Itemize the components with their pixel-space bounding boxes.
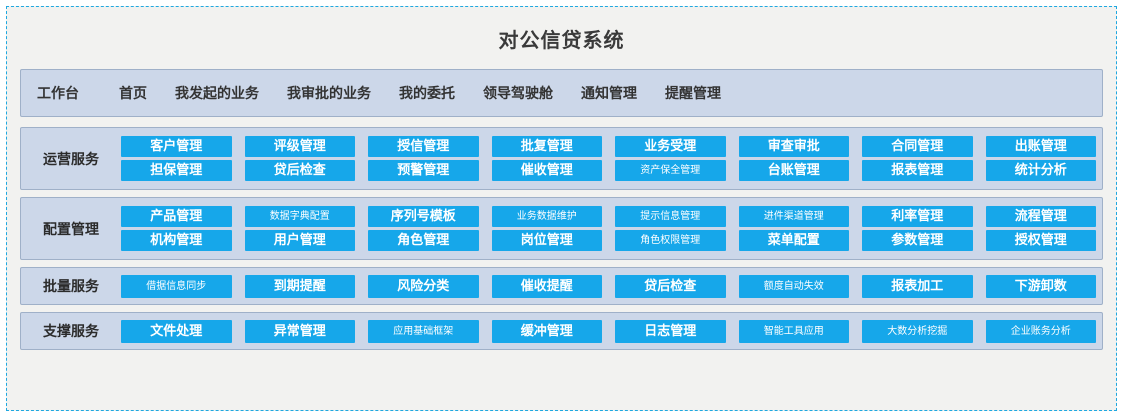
nav-item-3[interactable]: 我审批的业务 <box>273 83 385 103</box>
module-tile[interactable]: 预警管理 <box>368 160 479 181</box>
section-panel-3: 支撑服务文件处理异常管理应用基础框架缓冲管理日志管理智能工具应用大数分析挖掘企业… <box>20 312 1103 350</box>
nav-item-4[interactable]: 我的委托 <box>385 83 469 103</box>
module-tile[interactable]: 提示信息管理 <box>615 206 726 227</box>
module-tile[interactable]: 用户管理 <box>245 230 356 251</box>
page-title: 对公信贷系统 <box>499 24 625 53</box>
nav-item-7[interactable]: 提醒管理 <box>651 83 735 103</box>
module-tile[interactable]: 菜单配置 <box>739 230 850 251</box>
module-tile[interactable]: 批复管理 <box>492 136 603 157</box>
module-tile[interactable]: 授权管理 <box>986 230 1097 251</box>
module-tile[interactable]: 报表加工 <box>862 275 973 298</box>
tile-row: 客户管理评级管理授信管理批复管理业务受理审查审批合同管理出账管理 <box>121 136 1096 157</box>
module-tile[interactable]: 额度自动失效 <box>739 275 850 298</box>
module-tile[interactable]: 企业账务分析 <box>986 320 1097 343</box>
module-tile[interactable]: 业务受理 <box>615 136 726 157</box>
module-tile[interactable]: 授信管理 <box>368 136 479 157</box>
module-tile[interactable]: 评级管理 <box>245 136 356 157</box>
nav-item-5[interactable]: 领导驾驶舱 <box>469 83 567 103</box>
tile-row: 产品管理数据字典配置序列号模板业务数据维护提示信息管理进件渠道管理利率管理流程管… <box>121 206 1096 227</box>
module-tile[interactable]: 资产保全管理 <box>615 160 726 181</box>
module-tile[interactable]: 催收提醒 <box>492 275 603 298</box>
module-tile[interactable]: 智能工具应用 <box>739 320 850 343</box>
section-tile-grid-2: 借据信息同步到期提醒风险分类催收提醒贷后检查额度自动失效报表加工下游卸数 <box>121 275 1096 298</box>
module-tile[interactable]: 审查审批 <box>739 136 850 157</box>
tile-row: 借据信息同步到期提醒风险分类催收提醒贷后检查额度自动失效报表加工下游卸数 <box>121 275 1096 298</box>
module-tile[interactable]: 贷后检查 <box>245 160 356 181</box>
section-label-3: 支撑服务 <box>21 321 121 341</box>
section-panel-1: 配置管理产品管理数据字典配置序列号模板业务数据维护提示信息管理进件渠道管理利率管… <box>20 197 1103 260</box>
nav-item-6[interactable]: 通知管理 <box>567 83 651 103</box>
module-tile[interactable]: 数据字典配置 <box>245 206 356 227</box>
module-tile[interactable]: 流程管理 <box>986 206 1097 227</box>
module-tile[interactable]: 产品管理 <box>121 206 232 227</box>
module-tile[interactable]: 岗位管理 <box>492 230 603 251</box>
section-label-2: 批量服务 <box>21 276 121 296</box>
nav-item-1[interactable]: 首页 <box>105 83 161 103</box>
module-tile[interactable]: 出账管理 <box>986 136 1097 157</box>
nav-item-0[interactable]: 工作台 <box>37 83 105 103</box>
module-tile[interactable]: 序列号模板 <box>368 206 479 227</box>
module-tile[interactable]: 到期提醒 <box>245 275 356 298</box>
module-tile[interactable]: 担保管理 <box>121 160 232 181</box>
tile-row: 担保管理贷后检查预警管理催收管理资产保全管理台账管理报表管理统计分析 <box>121 160 1096 181</box>
module-tile[interactable]: 报表管理 <box>862 160 973 181</box>
main-navigation-bar: 工作台首页我发起的业务我审批的业务我的委托领导驾驶舱通知管理提醒管理 <box>20 69 1103 117</box>
module-tile[interactable]: 台账管理 <box>739 160 850 181</box>
title-bar: 对公信贷系统 <box>7 7 1116 69</box>
nav-item-2[interactable]: 我发起的业务 <box>161 83 273 103</box>
module-tile[interactable]: 业务数据维护 <box>492 206 603 227</box>
section-label-1: 配置管理 <box>21 219 121 239</box>
module-tile[interactable]: 大数分析挖掘 <box>862 320 973 343</box>
module-tile[interactable]: 贷后检查 <box>615 275 726 298</box>
section-panel-2: 批量服务借据信息同步到期提醒风险分类催收提醒贷后检查额度自动失效报表加工下游卸数 <box>20 267 1103 305</box>
module-tile[interactable]: 合同管理 <box>862 136 973 157</box>
section-tile-grid-3: 文件处理异常管理应用基础框架缓冲管理日志管理智能工具应用大数分析挖掘企业账务分析 <box>121 320 1096 343</box>
tile-row: 机构管理用户管理角色管理岗位管理角色权限管理菜单配置参数管理授权管理 <box>121 230 1096 251</box>
module-tile[interactable]: 日志管理 <box>615 320 726 343</box>
section-tile-grid-1: 产品管理数据字典配置序列号模板业务数据维护提示信息管理进件渠道管理利率管理流程管… <box>121 206 1096 251</box>
module-sections: 运营服务客户管理评级管理授信管理批复管理业务受理审查审批合同管理出账管理担保管理… <box>7 123 1116 350</box>
module-tile[interactable]: 角色管理 <box>368 230 479 251</box>
module-tile[interactable]: 利率管理 <box>862 206 973 227</box>
module-tile[interactable]: 下游卸数 <box>986 275 1097 298</box>
module-tile[interactable]: 参数管理 <box>862 230 973 251</box>
tile-row: 文件处理异常管理应用基础框架缓冲管理日志管理智能工具应用大数分析挖掘企业账务分析 <box>121 320 1096 343</box>
module-tile[interactable]: 缓冲管理 <box>492 320 603 343</box>
section-panel-0: 运营服务客户管理评级管理授信管理批复管理业务受理审查审批合同管理出账管理担保管理… <box>20 127 1103 190</box>
module-tile[interactable]: 进件渠道管理 <box>739 206 850 227</box>
module-tile[interactable]: 借据信息同步 <box>121 275 232 298</box>
module-tile[interactable]: 机构管理 <box>121 230 232 251</box>
section-tile-grid-0: 客户管理评级管理授信管理批复管理业务受理审查审批合同管理出账管理担保管理贷后检查… <box>121 136 1096 181</box>
section-label-0: 运营服务 <box>21 149 121 169</box>
module-tile[interactable]: 风险分类 <box>368 275 479 298</box>
application-frame: 对公信贷系统 工作台首页我发起的业务我审批的业务我的委托领导驾驶舱通知管理提醒管… <box>6 6 1117 411</box>
module-tile[interactable]: 角色权限管理 <box>615 230 726 251</box>
module-tile[interactable]: 客户管理 <box>121 136 232 157</box>
module-tile[interactable]: 统计分析 <box>986 160 1097 181</box>
module-tile[interactable]: 异常管理 <box>245 320 356 343</box>
module-tile[interactable]: 应用基础框架 <box>368 320 479 343</box>
module-tile[interactable]: 催收管理 <box>492 160 603 181</box>
module-tile[interactable]: 文件处理 <box>121 320 232 343</box>
